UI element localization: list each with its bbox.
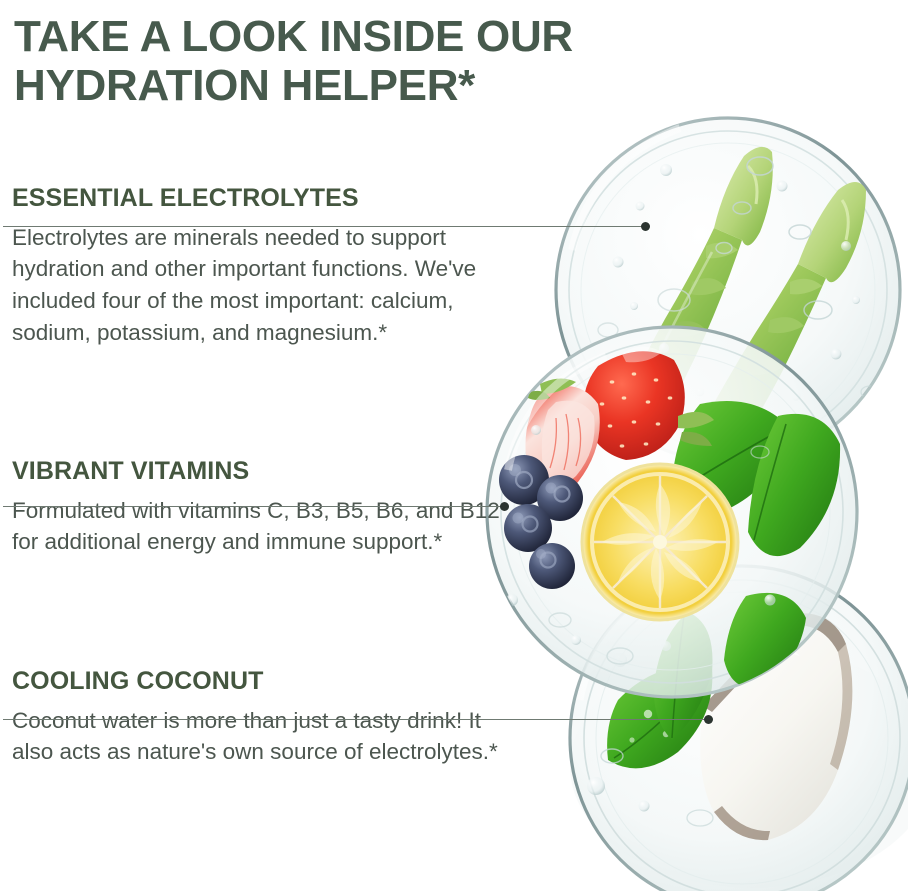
section-heading-vitamins: VIBRANT VITAMINS: [3, 458, 503, 486]
section-body-coconut: Coconut water is more than just a tasty …: [3, 696, 503, 769]
blueberry: [499, 455, 549, 505]
blueberry: [504, 504, 552, 552]
page-title-line-1: TAKE A LOOK INSIDE OUR: [14, 12, 774, 61]
asparagus-spear: [690, 182, 866, 466]
section-body-vitamins: Formulated with vitamins C, B3, B5, B6, …: [3, 486, 503, 559]
section-body-electrolytes: Electrolytes are minerals needed to supp…: [3, 213, 503, 350]
blueberry: [537, 475, 583, 521]
section-heading-coconut: COOLING COCONUT: [3, 668, 503, 696]
green-leaf: [724, 593, 806, 688]
green-leaf: [672, 401, 790, 512]
section-vibrant-vitamins: VIBRANT VITAMINS Formulated with vitamin…: [3, 458, 503, 558]
leader-dot-icon: [500, 502, 509, 511]
hydration-helper-infographic: TAKE A LOOK INSIDE OUR HYDRATION HELPER*…: [0, 0, 908, 891]
lemon-slice: [582, 464, 738, 620]
section-essential-electrolytes: ESSENTIAL ELECTROLYTES Electrolytes are …: [3, 185, 503, 349]
asparagus-spear: [612, 147, 773, 444]
page-title-line-2: HYDRATION HELPER*: [14, 61, 774, 110]
strawberry-half: [525, 378, 599, 496]
green-leaf: [748, 414, 840, 556]
strawberry-whole: [583, 346, 714, 460]
dish-berries-lemon: [487, 327, 857, 697]
leader-dot-icon: [641, 222, 650, 231]
leader-dot-icon: [704, 715, 713, 724]
blueberry: [529, 543, 575, 589]
green-leaf: [607, 666, 712, 768]
leader-rule: [3, 226, 645, 227]
dish-asparagus: [556, 118, 900, 466]
leader-rule: [3, 719, 709, 720]
dish-coconut: [570, 566, 908, 891]
page-title: TAKE A LOOK INSIDE OUR HYDRATION HELPER*: [14, 12, 774, 111]
leader-rule: [3, 506, 503, 507]
section-heading-electrolytes: ESSENTIAL ELECTROLYTES: [3, 185, 503, 213]
